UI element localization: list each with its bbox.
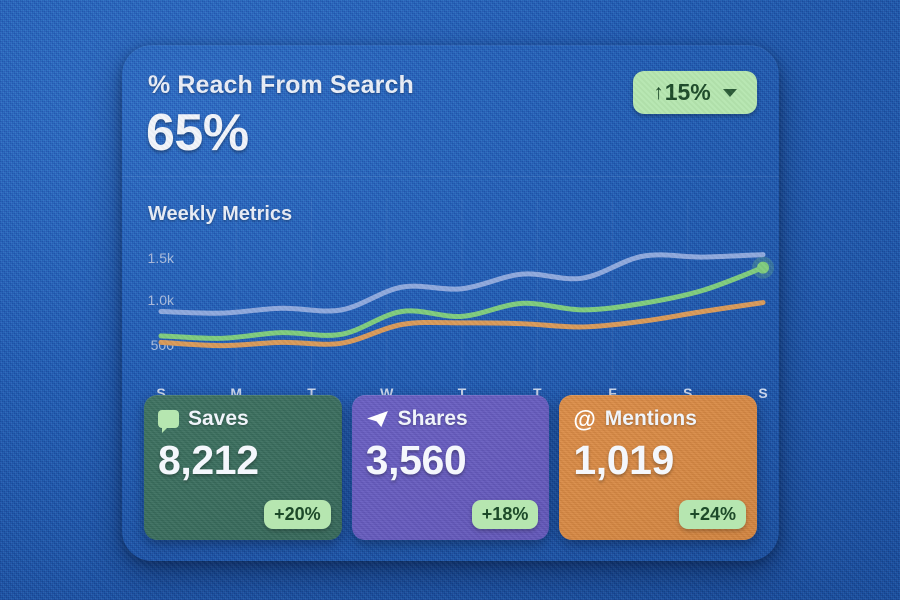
chart-section: Weekly Metrics 1.5k 1.0k 500 SMTWTTFSS (122, 185, 779, 380)
card-label: Saves (188, 407, 249, 431)
card-header: Shares (366, 407, 536, 431)
end-marker-dot[interactable] (757, 262, 769, 274)
speech-bubble-icon (158, 410, 179, 428)
arrow-up-icon: ↑ (653, 82, 664, 103)
line-chart-plot[interactable] (152, 240, 772, 370)
panel-header: % Reach From Search 65% ↑15% (122, 45, 779, 175)
chart-title: Weekly Metrics (148, 203, 292, 226)
stat-cards: Saves8,212+20%Shares3,560+18%@Mentions1,… (144, 395, 757, 540)
delta-dropdown-badge[interactable]: ↑15% (633, 71, 757, 114)
metric-title: % Reach From Search (148, 71, 414, 100)
desktop-background: % Reach From Search 65% ↑15% Weekly Metr… (0, 0, 900, 600)
card-value: 1,019 (573, 437, 674, 484)
card-delta-badge: +20% (264, 500, 331, 529)
chevron-down-icon[interactable] (723, 89, 737, 97)
stat-card-shares[interactable]: Shares3,560+18% (352, 395, 550, 540)
chart-svg (152, 240, 772, 370)
card-label: Shares (398, 407, 468, 431)
header-divider (122, 176, 779, 177)
card-value: 8,212 (158, 437, 259, 484)
delta-text: ↑15% (653, 79, 711, 106)
delta-percent: 15% (665, 79, 711, 106)
stat-card-saves[interactable]: Saves8,212+20% (144, 395, 342, 540)
card-label: Mentions (605, 407, 697, 431)
dashboard-panel: % Reach From Search 65% ↑15% Weekly Metr… (122, 45, 779, 561)
card-delta-badge: +24% (679, 500, 746, 529)
chart-series-layer (161, 255, 774, 346)
paper-plane-icon (366, 410, 389, 429)
card-delta-badge: +18% (472, 500, 539, 529)
metric-value: 65% (146, 103, 249, 163)
card-value: 3,560 (366, 437, 467, 484)
card-header: @Mentions (573, 407, 743, 431)
at-sign-icon: @ (573, 408, 595, 431)
card-header: Saves (158, 407, 328, 431)
stat-card-mentions[interactable]: @Mentions1,019+24% (559, 395, 757, 540)
